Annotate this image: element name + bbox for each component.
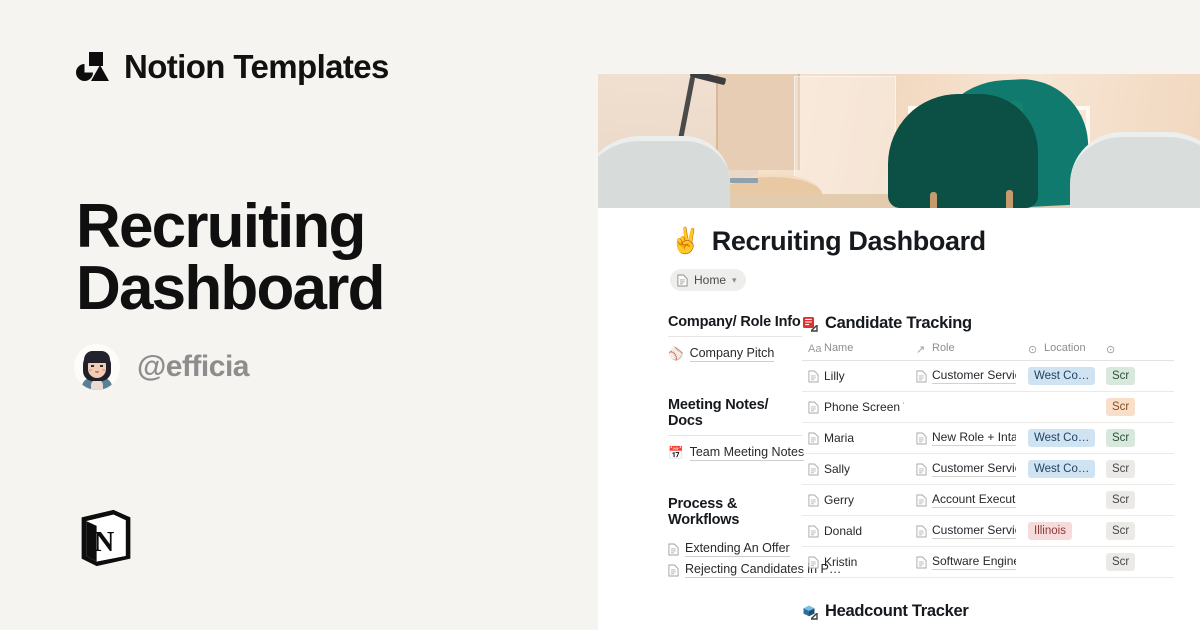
page-icon xyxy=(808,556,819,569)
role-link[interactable]: Customer Service T xyxy=(932,523,1016,539)
database-column: Candidate Tracking Aa Name xyxy=(802,314,1200,630)
promo-card-canvas: Notion Templates Recruiting Dashboard @e… xyxy=(0,0,1200,630)
chevron-down-icon: ▾ xyxy=(732,275,737,286)
candidate-name: Donald xyxy=(824,524,862,538)
notion-cube-logo: N xyxy=(76,506,136,570)
cell-role[interactable]: New Role + Intake xyxy=(910,423,1022,454)
cell-location[interactable] xyxy=(1022,547,1100,578)
notion-page-title: ✌️ Recruiting Dashboard xyxy=(670,226,986,257)
notion-page-body: ✌️ Recruiting Dashboard Home ▾ Compan xyxy=(598,208,1200,630)
cell-status[interactable]: Scr xyxy=(1100,361,1174,392)
cell-role[interactable]: Customer Service T xyxy=(910,361,1022,392)
cell-status[interactable]: Scr xyxy=(1100,454,1174,485)
database-block-candidate-tracking: Candidate Tracking Aa Name xyxy=(802,314,1200,578)
cell-name[interactable]: Lilly xyxy=(802,361,910,392)
sidebar-item-company-pitch[interactable]: ⚾ Company Pitch xyxy=(668,346,802,362)
sidebar-item-label: Team Meeting Notes xyxy=(690,445,805,461)
cell-name[interactable]: Sally xyxy=(802,454,910,485)
page-icon xyxy=(808,463,819,476)
sidebar-item-rejecting-candidates[interactable]: Rejecting Candidates in P… xyxy=(668,562,802,578)
page-columns: Company/ Role Info ⚾ Company Pitch Meeti… xyxy=(598,314,1200,630)
page-icon xyxy=(916,525,927,538)
page-icon xyxy=(916,463,927,476)
cell-status[interactable]: Scr xyxy=(1100,423,1174,454)
sidebar-item-extending-an-offer[interactable]: Extending An Offer xyxy=(668,541,802,557)
cell-location[interactable] xyxy=(1022,392,1100,423)
page-icon xyxy=(677,274,688,287)
cell-location[interactable]: West Co… xyxy=(1022,454,1100,485)
cell-location[interactable]: West Co… xyxy=(1022,423,1100,454)
page-title: Recruiting Dashboard xyxy=(76,196,556,320)
status-badge: Scr xyxy=(1106,398,1135,416)
divider xyxy=(668,435,802,436)
cell-location[interactable]: West Co… xyxy=(1022,361,1100,392)
select-type-icon: ⊙ xyxy=(1028,343,1039,354)
avatar xyxy=(74,344,120,390)
candidate-name: Sally xyxy=(824,462,850,476)
candidate-name: Gerry xyxy=(824,493,854,507)
calendar-emoji: 📅 xyxy=(668,447,684,460)
role-link[interactable]: Customer Service T xyxy=(932,368,1016,384)
cell-name[interactable]: Phone Screen Template xyxy=(802,392,910,423)
sidebar-section-process-workflows: Process & Workflows Extending An Offer xyxy=(668,496,802,578)
page-header: ✌️ Recruiting Dashboard Home ▾ xyxy=(670,226,986,292)
status-badge: Scr xyxy=(1106,460,1135,478)
column-header-status[interactable]: ⊙ xyxy=(1100,342,1174,361)
promo-panel: Notion Templates Recruiting Dashboard @e… xyxy=(0,0,600,630)
role-link[interactable]: Account Executive xyxy=(932,492,1016,508)
sidebar-section-company-role-info: Company/ Role Info ⚾ Company Pitch xyxy=(668,314,802,362)
cell-status[interactable]: Scr xyxy=(1100,485,1174,516)
sidebar-column: Company/ Role Info ⚾ Company Pitch Meeti… xyxy=(598,314,802,630)
section-heading: Company/ Role Info xyxy=(668,314,802,330)
cell-role[interactable]: Customer Service T xyxy=(910,516,1022,547)
sidebar-item-label: Company Pitch xyxy=(690,346,775,362)
table-row[interactable]: LillyCustomer Service TWest Co…Scr xyxy=(802,361,1174,392)
candidate-tracking-table: Aa Name ↗ Role xyxy=(802,342,1174,578)
cell-status[interactable]: Scr xyxy=(1100,516,1174,547)
column-label: Role xyxy=(932,342,955,354)
page-icon xyxy=(668,543,679,556)
brand-header: Notion Templates xyxy=(76,48,389,86)
status-badge: Scr xyxy=(1106,553,1135,571)
divider xyxy=(668,336,802,337)
page-icon xyxy=(916,556,927,569)
role-link[interactable]: New Role + Intake xyxy=(932,430,1016,446)
cell-role[interactable]: Account Executive xyxy=(910,485,1022,516)
section-heading: Meeting Notes/ Docs xyxy=(668,397,802,429)
table-row[interactable]: GerryAccount ExecutiveScr xyxy=(802,485,1174,516)
notion-page-title-text: Recruiting Dashboard xyxy=(712,226,986,257)
table-row[interactable]: MariaNew Role + Intake West Co…Scr xyxy=(802,423,1174,454)
page-icon xyxy=(808,494,819,507)
cell-role[interactable] xyxy=(910,392,1022,423)
role-link[interactable]: Customer Service T xyxy=(932,461,1016,477)
table-row[interactable]: KristinSoftware EngineerScr xyxy=(802,547,1174,578)
sidebar-item-label: Extending An Offer xyxy=(685,541,790,557)
brand-title: Notion Templates xyxy=(124,48,389,86)
column-label: Name xyxy=(824,342,853,354)
cell-location[interactable] xyxy=(1022,485,1100,516)
column-label: Location xyxy=(1044,342,1086,354)
column-header-name[interactable]: Aa Name xyxy=(802,342,910,361)
page-icon xyxy=(808,370,819,383)
candidate-name: Maria xyxy=(824,431,854,445)
page-icon xyxy=(808,432,819,445)
notion-screenshot: ✌️ Recruiting Dashboard Home ▾ Compan xyxy=(598,74,1200,630)
breadcrumb-label: Home xyxy=(694,273,726,287)
location-pill: West Co… xyxy=(1028,367,1095,385)
page-icon xyxy=(916,370,927,383)
page-icon xyxy=(808,401,819,414)
status-badge: Scr xyxy=(1106,522,1135,540)
page-icon xyxy=(916,432,927,445)
candidate-rows: LillyCustomer Service TWest Co…ScrPhone … xyxy=(802,361,1174,578)
column-header-location[interactable]: ⊙ Location xyxy=(1022,342,1100,361)
candidate-name: Kristin xyxy=(824,555,857,569)
relation-type-icon: ↗ xyxy=(916,343,927,354)
table-header-row: Aa Name ↗ Role xyxy=(802,342,1174,361)
location-pill: Illinois xyxy=(1028,522,1072,540)
peace-sign-emoji: ✌️ xyxy=(670,229,701,254)
database-title-row[interactable]: Candidate Tracking xyxy=(802,314,1200,333)
svg-text:N: N xyxy=(94,527,114,558)
table-row[interactable]: Phone Screen TemplateScr xyxy=(802,392,1174,423)
cell-status[interactable]: Scr xyxy=(1100,392,1174,423)
cover-photo xyxy=(598,74,1200,208)
role-link[interactable]: Software Engineer xyxy=(932,554,1016,570)
page-icon xyxy=(808,525,819,538)
table-row[interactable]: SallyCustomer Service TWest Co…Scr xyxy=(802,454,1174,485)
location-pill: West Co… xyxy=(1028,460,1095,478)
database-title-row[interactable]: Headcount Tracker xyxy=(802,602,1200,621)
candidate-name: Lilly xyxy=(824,369,845,383)
location-pill: West Co… xyxy=(1028,429,1095,447)
breadcrumb[interactable]: Home ▾ xyxy=(670,269,746,291)
status-badge: Scr xyxy=(1106,429,1135,447)
notion-templates-gallery-icon xyxy=(76,52,110,82)
table-row[interactable]: DonaldCustomer Service TIllinoisScr xyxy=(802,516,1174,547)
database-title: Headcount Tracker xyxy=(825,602,968,621)
select-type-icon: ⊙ xyxy=(1106,343,1117,354)
database-block-headcount-tracker: Headcount Tracker Aa Role xyxy=(802,602,1200,630)
status-badge: Scr xyxy=(1106,367,1135,385)
database-title: Candidate Tracking xyxy=(825,314,972,333)
page-icon xyxy=(916,494,927,507)
column-header-role[interactable]: ↗ Role xyxy=(910,342,1022,361)
page-icon xyxy=(668,564,679,577)
linked-database-red-icon xyxy=(802,316,818,332)
cell-name[interactable]: Gerry xyxy=(802,485,910,516)
linked-database-blue-icon xyxy=(802,604,818,620)
cell-role[interactable]: Customer Service T xyxy=(910,454,1022,485)
candidate-name: Phone Screen Template xyxy=(824,400,904,414)
sidebar-section-meeting-notes-docs: Meeting Notes/ Docs 📅 Team Meeting Notes xyxy=(668,397,802,461)
cell-name[interactable]: Kristin xyxy=(802,547,910,578)
author-handle: @efficia xyxy=(137,350,249,384)
cell-location[interactable]: Illinois xyxy=(1022,516,1100,547)
status-badge: Scr xyxy=(1106,491,1135,509)
cell-name[interactable]: Maria xyxy=(802,423,910,454)
cell-role[interactable]: Software Engineer xyxy=(910,547,1022,578)
cell-name[interactable]: Donald xyxy=(802,516,910,547)
cell-status[interactable]: Scr xyxy=(1100,547,1174,578)
section-heading: Process & Workflows xyxy=(668,496,802,528)
sidebar-item-team-meeting-notes[interactable]: 📅 Team Meeting Notes xyxy=(668,445,802,461)
baseball-emoji: ⚾ xyxy=(668,348,684,361)
author-row: @efficia xyxy=(74,344,249,390)
text-type-icon: Aa xyxy=(808,343,819,354)
